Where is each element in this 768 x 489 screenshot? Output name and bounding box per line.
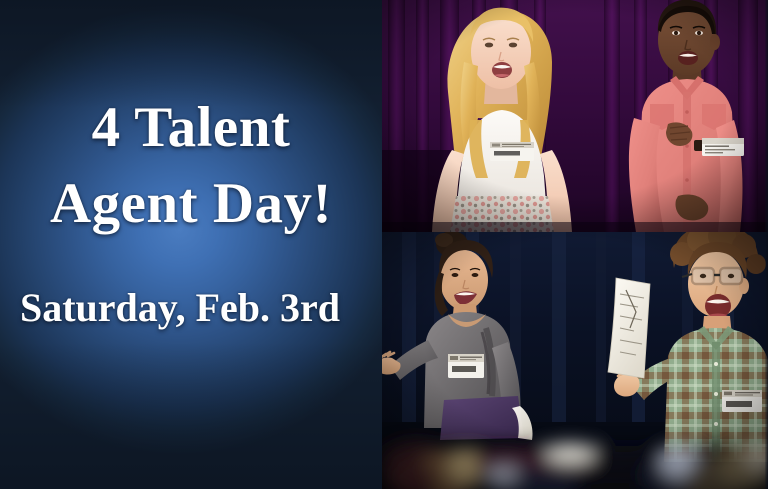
photo-bottom-illustration (382, 232, 768, 489)
headline-line-2: Agent Day! (0, 175, 382, 232)
photo-top-illustration (382, 0, 768, 232)
event-promo-banner: 4 Talent Agent Day! Saturday, Feb. 3rd (0, 0, 768, 489)
left-text-panel: 4 Talent Agent Day! Saturday, Feb. 3rd (0, 0, 382, 489)
event-date-subheadline: Saturday, Feb. 3rd (0, 288, 360, 328)
photo-column (382, 0, 768, 489)
headline-line-1: 4 Talent (0, 99, 382, 156)
photo-bottom-two-kids-performing (382, 232, 768, 489)
photo-top-two-kids-singing (382, 0, 768, 232)
